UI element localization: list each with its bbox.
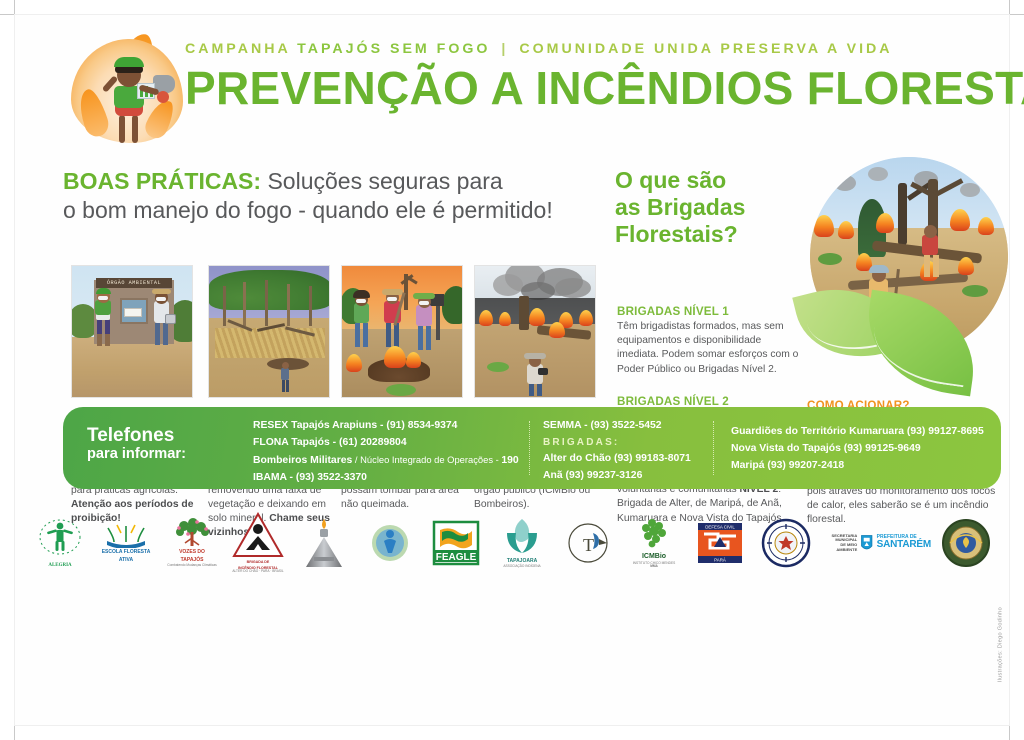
practice-card: Preparo do terreno: Após obter a autoriz… — [208, 265, 336, 540]
fire-out-of-control-illustration — [474, 265, 596, 398]
phones-column-3: Guardiões do Território Kumaruara (93) 9… — [731, 424, 1001, 475]
logo-caption: VOZES DO — [179, 550, 205, 556]
good-practices-section: BOAS PRÁTICAS: Soluções seguras para o b… — [63, 167, 611, 226]
logo-caption: ALEGRIA — [48, 563, 71, 569]
firefighter-mascot-icon — [63, 37, 193, 145]
campaign-separator: | — [501, 41, 508, 57]
phones-column-1: RESEX Tapajós Arapiuns - (91) 8534-9374 … — [253, 418, 513, 486]
bombeiros-prefix: Bombeiros Militares — [253, 455, 352, 466]
phones-bar: Telefones para informar: RESEX Tapajós A… — [63, 407, 1001, 489]
bird-circle-icon: T — [563, 521, 613, 565]
phone-entry: FLONA Tapajós - (61) 20289804 — [253, 435, 513, 452]
fire-brigade-seal-icon — [761, 518, 811, 568]
good-practices-heading-rest-1: Soluções seguras para — [267, 168, 502, 194]
phone-entry: RESEX Tapajós Arapiuns - (91) 8534-9374 — [253, 418, 513, 435]
torch-monument-logo — [293, 510, 355, 576]
environmental-agency-illustration: ÓRGÃO AMBIENTAL — [71, 265, 193, 398]
tapajoara-logo: TAPAJOARA ASSOCIAÇÃO INDÍGENA — [491, 510, 553, 576]
poster-sheet: CAMPANHA TAPAJÓS SEM FOGO | COMUNIDADE U… — [14, 14, 1010, 726]
campaign-line: CAMPANHA TAPAJÓS SEM FOGO | COMUNIDADE U… — [185, 41, 997, 57]
poster-header: CAMPANHA TAPAJÓS SEM FOGO | COMUNIDADE U… — [15, 31, 1011, 143]
brigades-level-1-block: BRIGADAS NÍVEL 1 Têm brigadistas formado… — [617, 305, 805, 377]
civil-defense-icon: DEFESA CIVIL PARÁ — [694, 521, 746, 565]
warning-triangle-icon — [232, 512, 284, 558]
illustration-credit: Ilustrações: Diego Godinho — [997, 607, 1003, 682]
santarem-municipal-logos: SECRETARIA MUNICIPAL DE MEIO AMBIENTE PR… — [821, 510, 931, 576]
phone-entry-bombeiros: Bombeiros Militares / Núcleo Integrado d… — [253, 452, 513, 470]
svg-text:DEFESA CIVIL: DEFESA CIVIL — [705, 525, 735, 530]
bombeiros-thin: / Núcleo Integrado de Operações - — [352, 454, 501, 465]
partner-logos: ALEGRIA ESCOLA FLORESTA ATIVA — [29, 507, 997, 579]
good-practices-heading-strong: BOAS PRÁTICAS: — [63, 168, 261, 194]
phone-entry: IBAMA - (93) 3522-3370 — [253, 470, 513, 487]
ita-logo: T — [557, 510, 619, 576]
land-preparation-illustration — [208, 265, 330, 398]
escola-floresta-ativa-logo: ESCOLA FLORESTA ATIVA — [95, 510, 157, 576]
svg-text:FEAGLE: FEAGLE — [436, 552, 477, 563]
hands-leaf-icon — [499, 517, 545, 557]
brigades-title-line-1: O que são — [615, 167, 726, 193]
phones-divider — [713, 421, 714, 475]
logo-subcaption: ALTER DO CHÃO · PARÁ · BRASIL — [232, 570, 283, 574]
campaign-prefix: CAMPANHA — [185, 41, 290, 57]
phones-label-line-2: para informar: — [87, 446, 237, 462]
feagle-logo: FEAGLE — [425, 510, 487, 576]
good-practices-heading-rest-2: o bom manejo do fogo - quando ele é perm… — [63, 196, 611, 225]
poster-canvas: CAMPANHA TAPAJÓS SEM FOGO | COMUNIDADE U… — [0, 0, 1024, 740]
logo-caption-2: ATIVA — [119, 558, 133, 564]
logo-caption-2: DE MEIO AMBIENTE — [821, 543, 857, 552]
logo-caption-4: SANTARÉM — [877, 540, 931, 551]
phones-label: Telefones para informar: — [87, 425, 237, 463]
torch-icon — [302, 515, 346, 571]
santarem-coat-of-arms-icon — [860, 531, 873, 555]
phone-entry: Alter do Chão (93) 99183-8071 — [543, 451, 723, 468]
military-police-seal-icon — [941, 518, 991, 568]
phones-divider — [529, 421, 530, 475]
phones-brigadas-subheading: BRIGADAS: — [543, 435, 723, 451]
feagle-map-icon: FEAGLE — [432, 520, 480, 566]
phones-label-line-1: Telefones — [87, 425, 237, 446]
page-title: PREVENÇÃO A INCÊNDIOS FLORESTAIS — [185, 64, 997, 112]
campaign-tagline: COMUNIDADE UNIDA PRESERVA A VIDA — [519, 41, 892, 57]
phone-entry: SEMMA - (93) 3522-5452 — [543, 418, 723, 435]
icmbio-logo: ICMBio INSTITUTO CHICO MENDES MMA — [623, 510, 685, 576]
defesa-civil-para-logo: DEFESA CIVIL PARÁ — [689, 510, 751, 576]
bombeiros-number: 190 — [501, 455, 518, 466]
phone-entry: Nova Vista do Tapajós (93) 99125-9649 — [731, 441, 1001, 458]
brigades-title-line-2: as Brigadas — [615, 194, 745, 220]
campaign-name: TAPAJÓS SEM FOGO — [297, 41, 490, 57]
federacao-flona-tapajos-logo — [359, 510, 421, 576]
open-book-icon — [104, 522, 148, 548]
logo-subcaption: ASSOCIAÇÃO INDÍGENA — [503, 565, 540, 569]
svg-text:PARÁ: PARÁ — [714, 558, 726, 563]
phone-entry: Anã (93) 99237-3126 — [543, 468, 723, 485]
svg-text:T: T — [583, 535, 594, 555]
brigades-level-1-heading: BRIGADAS NÍVEL 1 — [617, 305, 805, 318]
logo-caption: BRIGADA DE — [247, 560, 270, 564]
brigades-title-line-3: Florestais? — [615, 221, 738, 247]
saude-e-alegria-logo: ALEGRIA — [29, 510, 91, 576]
phone-entry: Guardiões do Território Kumaruara (93) 9… — [731, 424, 1001, 441]
tree-icon — [170, 518, 214, 548]
logo-caption: ESCOLA FLORESTA — [102, 550, 151, 556]
phone-entry: Maripá (93) 99207-2418 — [731, 458, 1001, 475]
policia-militar-logo — [935, 510, 997, 576]
logo-subcaption-2: MMA — [650, 565, 658, 569]
good-practices-heading: BOAS PRÁTICAS: Soluções seguras para o b… — [63, 167, 611, 226]
brazil-map-leaves-icon — [632, 517, 676, 551]
phones-column-2: SEMMA - (93) 3522-5452 BRIGADAS: Alter d… — [543, 418, 723, 485]
stay-with-fire-illustration — [341, 265, 463, 398]
federation-circle-icon — [366, 519, 414, 567]
brigades-level-1-body: Têm brigadistas formados, mas sem equipa… — [617, 320, 805, 377]
saude-figure-icon — [37, 517, 83, 561]
logo-subcaption: Combatendo Mudanças Climáticas — [167, 564, 216, 568]
corpo-de-bombeiros-logo — [755, 510, 817, 576]
vozes-do-tapajos-logo: VOZES DO TAPAJÓS Combatendo Mudanças Cli… — [161, 510, 223, 576]
brigades-section: O que são as Brigadas Florestais? BRIGAD… — [615, 167, 1001, 248]
header-text-group: CAMPANHA TAPAJÓS SEM FOGO | COMUNIDADE U… — [185, 41, 997, 112]
brigada-de-incendio-florestal-logo: BRIGADA DE INCÊNDIO FLORESTAL ALTER DO C… — [227, 510, 289, 576]
